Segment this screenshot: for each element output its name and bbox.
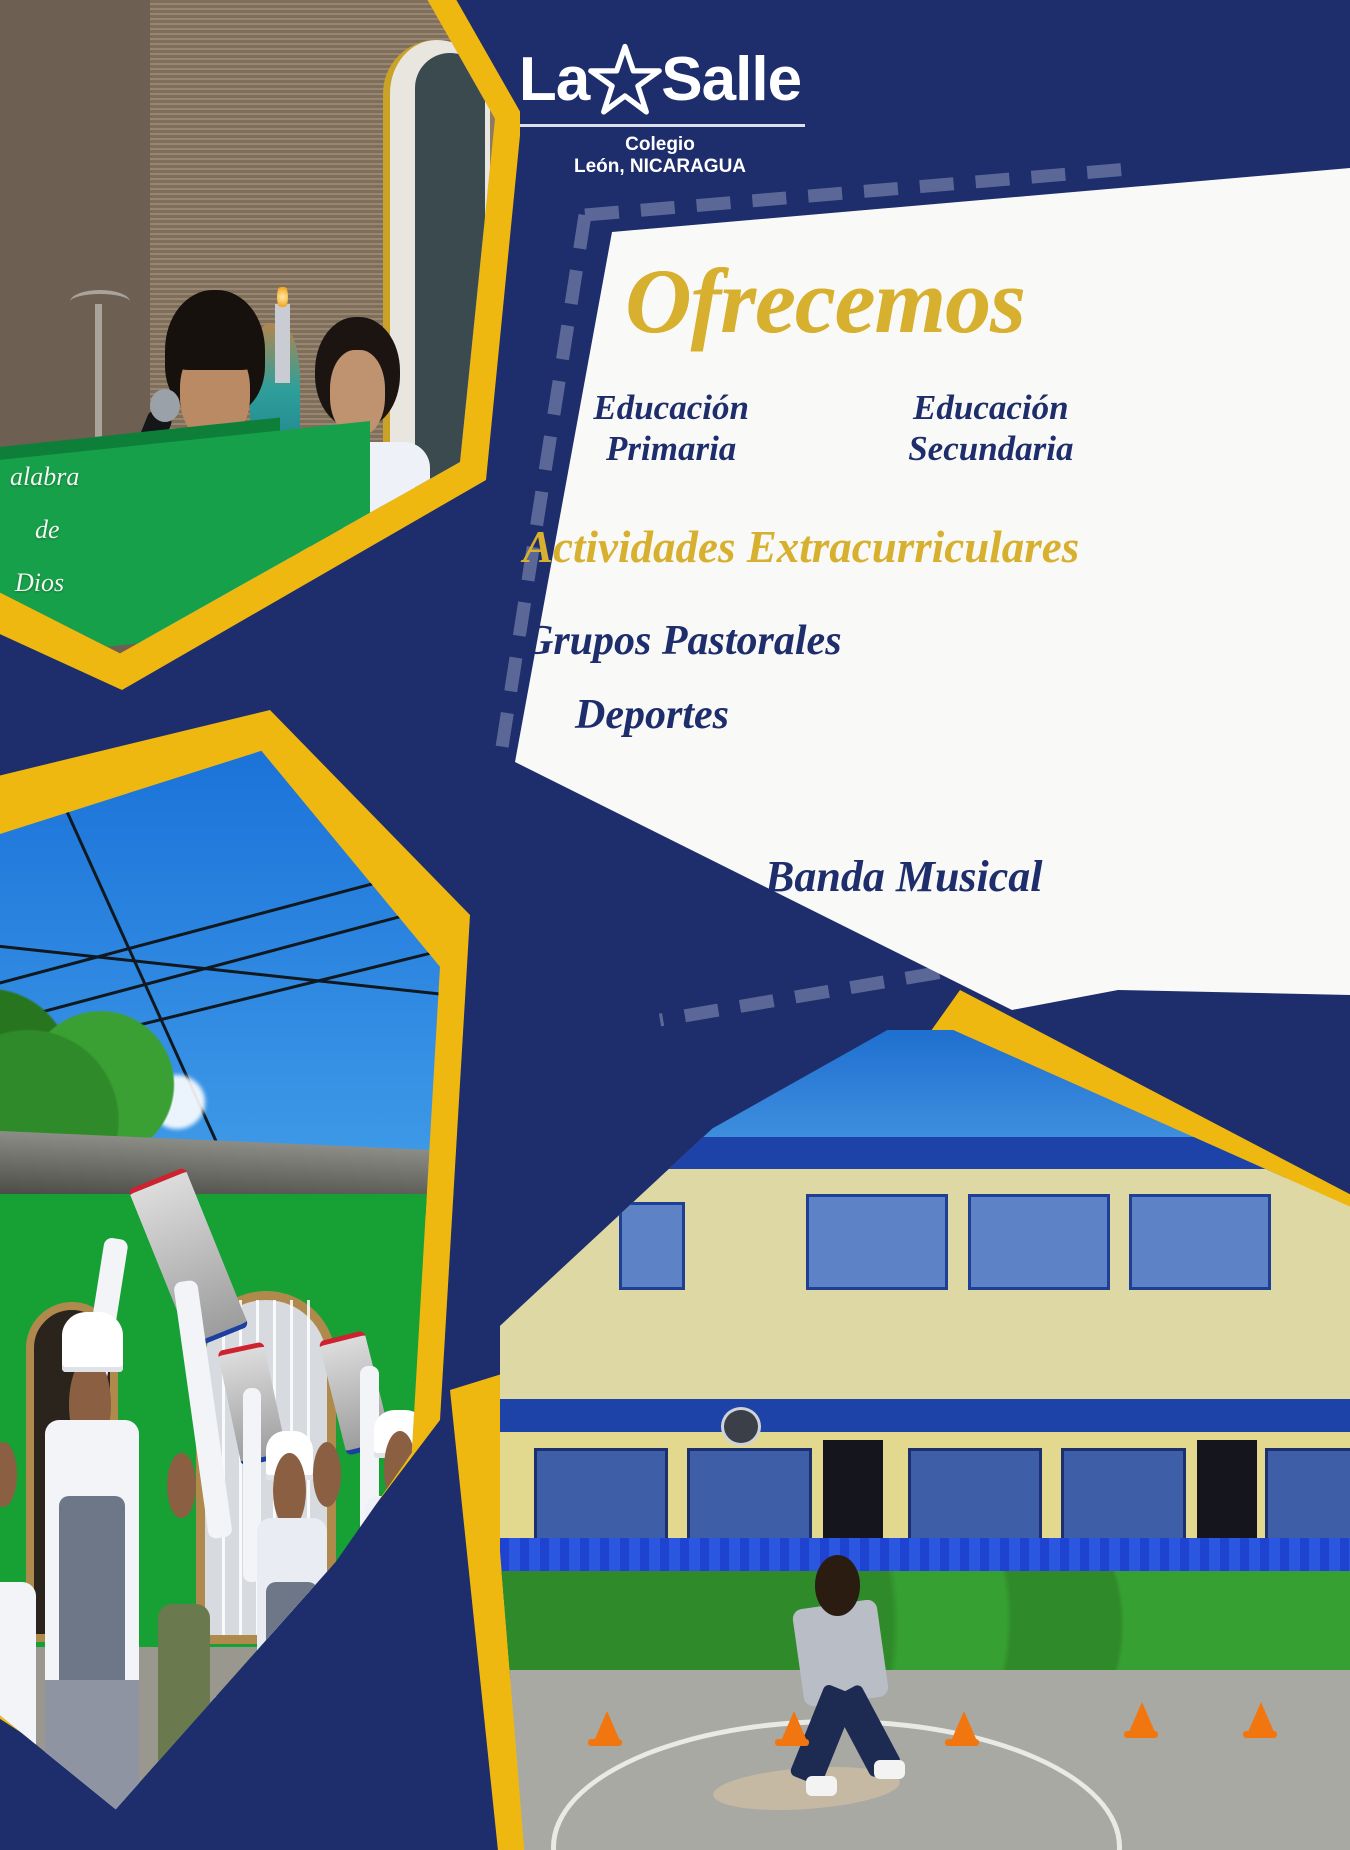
card-content: Ofrecemos Educación Primaria Educación S… <box>505 255 1145 895</box>
activity-banda-musical: Banda Musical <box>765 855 1043 899</box>
logo-city-label: León, NICARAGUA <box>460 156 860 178</box>
education-row: Educación Primaria Educación Secundaria <box>505 387 1145 470</box>
logo-divider <box>515 124 805 127</box>
activities-heading: Actividades Extracurriculares <box>505 522 1145 572</box>
banner-line-3: Dios <box>15 568 64 598</box>
logo-wordmark: La Salle <box>460 42 860 118</box>
education-item-secundaria: Educación Secundaria <box>855 387 1127 470</box>
education-item-primaria: Educación Primaria <box>535 387 807 470</box>
logo-word-salle: Salle <box>661 49 801 111</box>
star-icon <box>587 42 663 118</box>
logo-colegio-label: Colegio <box>460 134 860 156</box>
poster-root: La Salle Colegio León, NICARAGUA Ofrecem… <box>0 0 1350 1850</box>
page-title: Ofrecemos <box>505 255 1145 347</box>
brand-logo: La Salle Colegio León, NICARAGUA <box>460 42 860 172</box>
banner-line-2: de <box>35 515 60 545</box>
logo-word-la: La <box>519 49 589 111</box>
activity-deportes: Deportes <box>505 694 1145 736</box>
activity-grupos-pastorales: Grupos Pastorales <box>505 620 1145 662</box>
banner-line-1: alabra <box>10 462 79 492</box>
